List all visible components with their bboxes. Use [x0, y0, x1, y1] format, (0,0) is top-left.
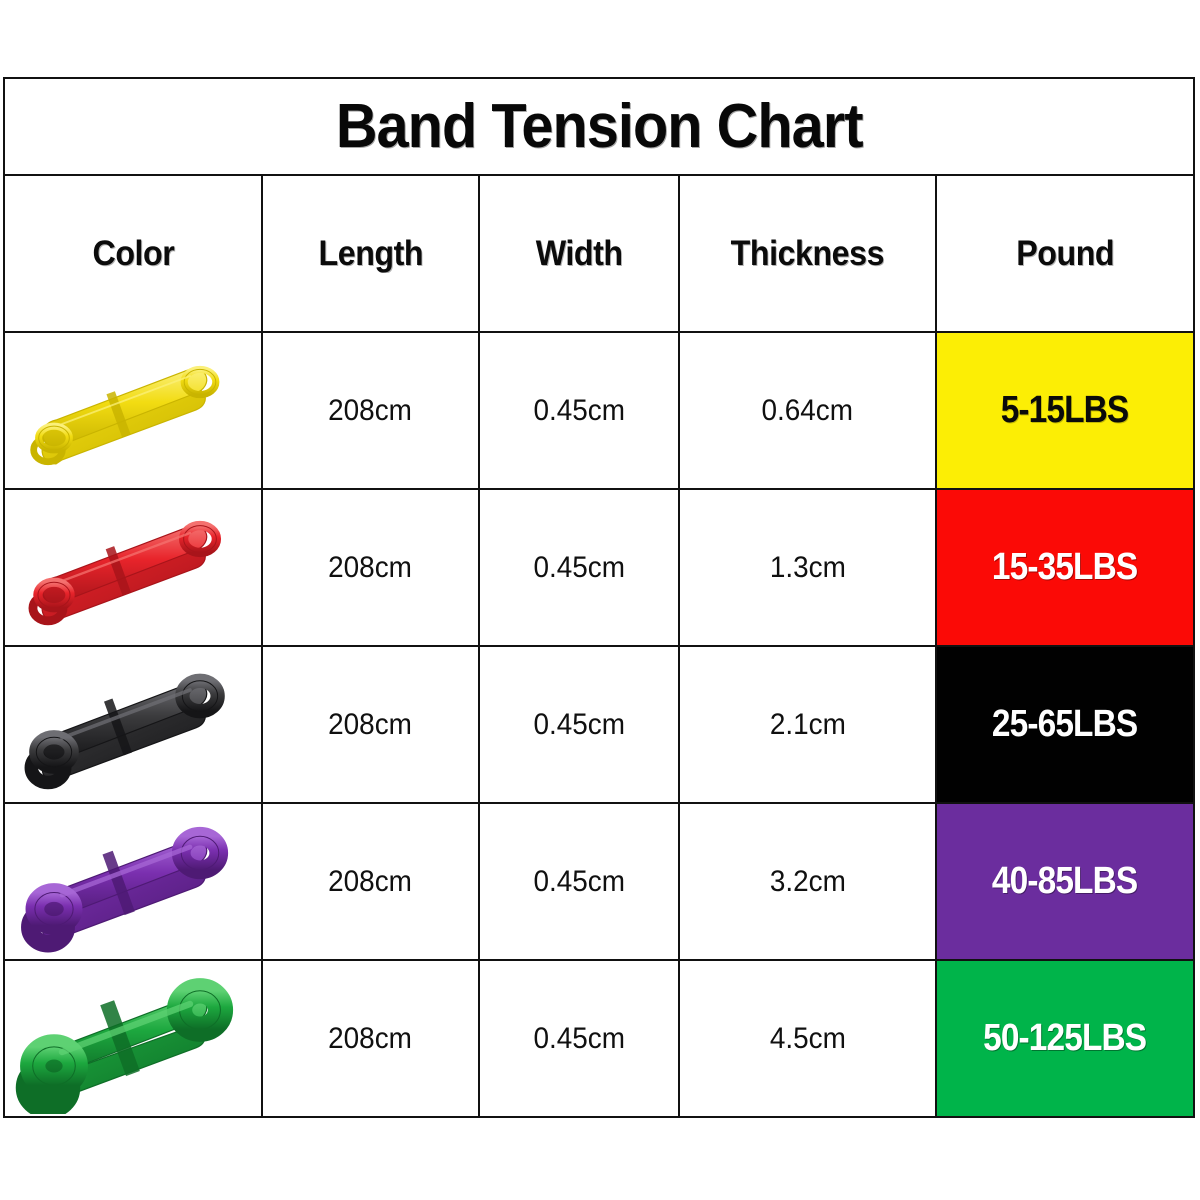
band-image-cell [4, 332, 262, 489]
cell-width-value: 0.45cm [533, 708, 625, 742]
cell-length-value: 208cm [329, 708, 413, 742]
pound-value: 40-85LBS [992, 860, 1137, 903]
column-header-label: Color [92, 234, 174, 274]
cell-pound: 15-35LBS [936, 489, 1194, 646]
cell-thickness: 2.1cm [679, 646, 936, 803]
header-row: ColorLengthWidthThicknessPound [4, 175, 1194, 332]
cell-width: 0.45cm [479, 803, 679, 960]
cell-length: 208cm [262, 646, 479, 803]
column-header-length: Length [262, 175, 479, 332]
cell-thickness: 1.3cm [679, 489, 936, 646]
band-image-wrapper [5, 493, 261, 643]
cell-width: 0.45cm [479, 960, 679, 1117]
band-tension-chart-page: Band Tension ChartColorLengthWidthThickn… [0, 0, 1200, 1200]
cell-length: 208cm [262, 803, 479, 960]
green-resistance-band-artwork [8, 964, 258, 1114]
table-row: 208cm0.45cm4.5cm50-125LBS [4, 960, 1194, 1117]
purple-resistance-band-artwork [8, 807, 258, 957]
cell-pound: 25-65LBS [936, 646, 1194, 803]
cell-length-value: 208cm [329, 551, 413, 585]
cell-pound: 5-15LBS [936, 332, 1194, 489]
pound-value: 15-35LBS [992, 546, 1137, 589]
column-header-label: Width [536, 234, 623, 274]
cell-width-value: 0.45cm [533, 394, 625, 428]
page-title: Band Tension Chart [336, 96, 863, 158]
cell-width: 0.45cm [479, 332, 679, 489]
chart-title-cell: Band Tension Chart [4, 78, 1194, 175]
cell-length: 208cm [262, 332, 479, 489]
cell-thickness-value: 0.64cm [762, 394, 854, 428]
cell-width: 0.45cm [479, 489, 679, 646]
column-header-thickness: Thickness [679, 175, 936, 332]
cell-width-value: 0.45cm [533, 1022, 625, 1056]
cell-length-value: 208cm [329, 394, 413, 428]
column-header-label: Length [318, 234, 423, 274]
column-header-label: Thickness [731, 234, 884, 274]
table-row: 208cm0.45cm3.2cm40-85LBS [4, 803, 1194, 960]
cell-pound: 50-125LBS [936, 960, 1194, 1117]
table-row: 208cm0.45cm1.3cm15-35LBS [4, 489, 1194, 646]
band-image-wrapper [5, 964, 261, 1114]
yellow-resistance-band-artwork [8, 336, 258, 486]
table-row: 208cm0.45cm2.1cm25-65LBS [4, 646, 1194, 803]
band-image-cell [4, 803, 262, 960]
column-header-color: Color [4, 175, 262, 332]
cell-thickness-value: 4.5cm [770, 1022, 846, 1056]
band-image-wrapper [5, 650, 261, 800]
band-image-cell [4, 960, 262, 1117]
red-resistance-band-artwork [8, 493, 258, 643]
cell-length-value: 208cm [329, 865, 413, 899]
band-image-cell [4, 646, 262, 803]
table-row: 208cm0.45cm0.64cm5-15LBS [4, 332, 1194, 489]
band-image-wrapper [5, 807, 261, 957]
column-header-width: Width [479, 175, 679, 332]
cell-length: 208cm [262, 960, 479, 1117]
cell-thickness-value: 3.2cm [770, 865, 846, 899]
cell-width-value: 0.45cm [533, 865, 625, 899]
band-tension-table: Band Tension ChartColorLengthWidthThickn… [3, 77, 1195, 1118]
title-row: Band Tension Chart [4, 78, 1194, 175]
black-resistance-band-artwork [8, 650, 258, 800]
cell-thickness: 3.2cm [679, 803, 936, 960]
column-header-pound: Pound [936, 175, 1194, 332]
cell-length: 208cm [262, 489, 479, 646]
cell-length-value: 208cm [329, 1022, 413, 1056]
cell-thickness-value: 1.3cm [770, 551, 846, 585]
cell-thickness-value: 2.1cm [770, 708, 846, 742]
cell-width: 0.45cm [479, 646, 679, 803]
cell-thickness: 0.64cm [679, 332, 936, 489]
band-image-wrapper [5, 336, 261, 486]
cell-width-value: 0.45cm [533, 551, 625, 585]
pound-value: 25-65LBS [992, 703, 1137, 746]
pound-value: 50-125LBS [983, 1017, 1146, 1060]
cell-thickness: 4.5cm [679, 960, 936, 1117]
pound-value: 5-15LBS [1001, 389, 1129, 432]
cell-pound: 40-85LBS [936, 803, 1194, 960]
band-image-cell [4, 489, 262, 646]
column-header-label: Pound [1016, 234, 1114, 274]
